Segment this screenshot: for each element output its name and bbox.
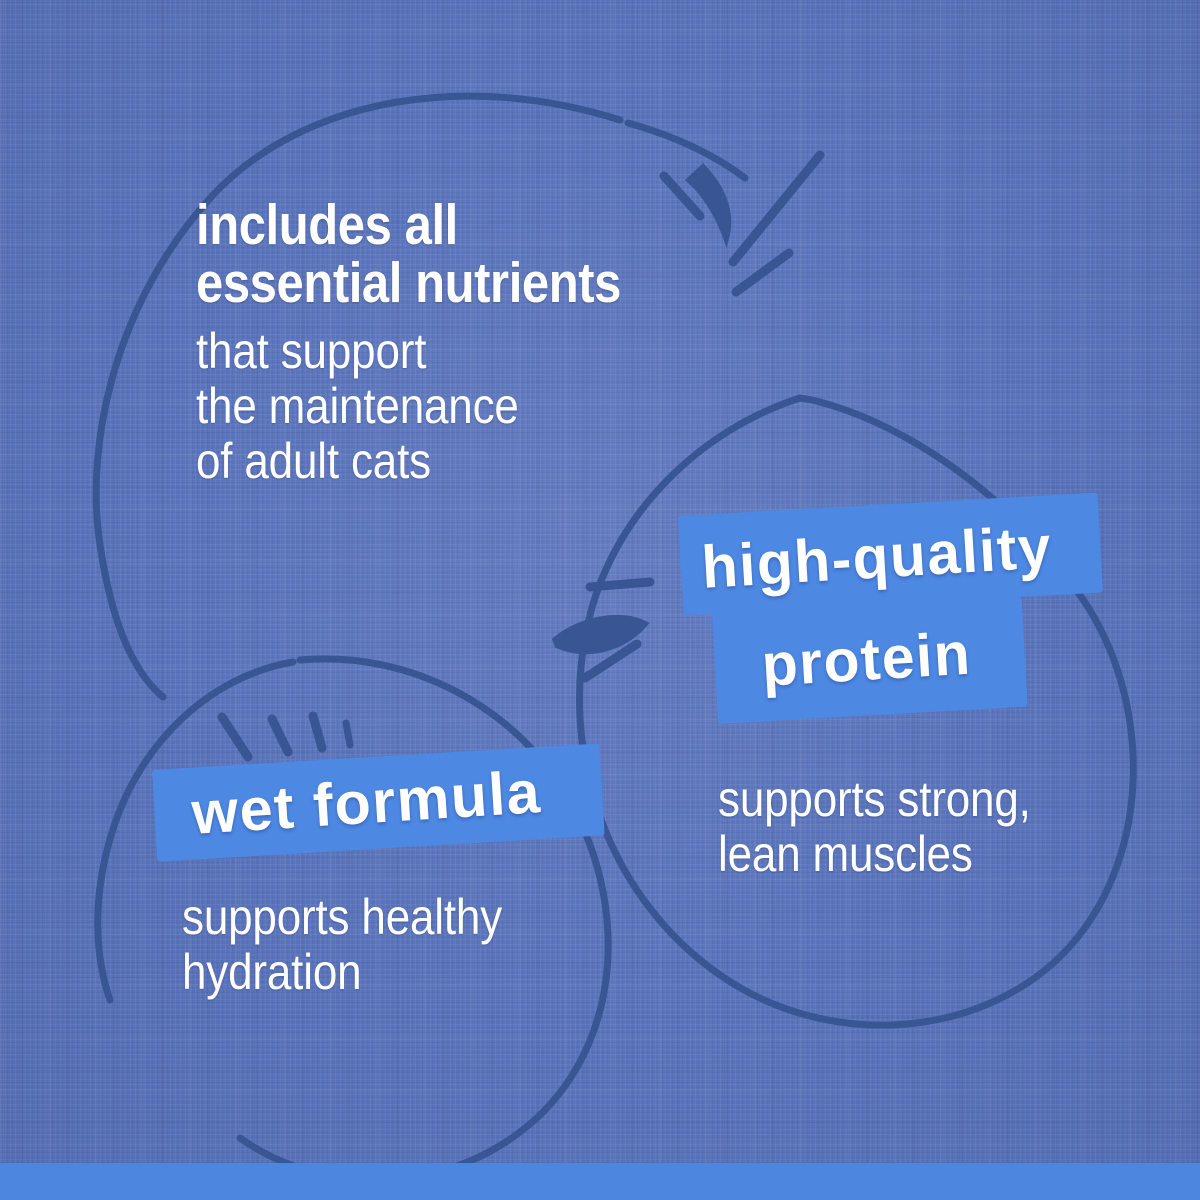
wet-subtext-line1: supports healthy: [182, 890, 502, 945]
wet-subtext-line2: hydration: [182, 945, 502, 1000]
bottom-accent-bar: [0, 1163, 1200, 1200]
product-feature-infographic: includes all essential nutrients that su…: [0, 0, 1200, 1200]
wet-subtext-block: supports healthy hydration: [182, 890, 546, 1000]
feature-wet-formula: wet formula: [0, 0, 1200, 1200]
